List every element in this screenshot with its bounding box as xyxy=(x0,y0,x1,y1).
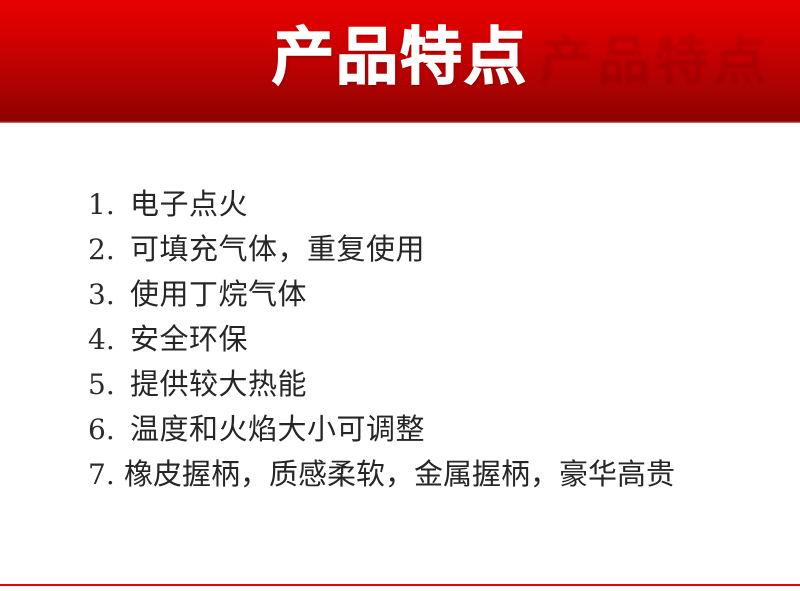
list-item: 4. 安全环保 xyxy=(88,317,768,362)
list-item-index: 4. xyxy=(88,317,130,362)
header-banner: 产品特点 产品特点 xyxy=(0,0,800,123)
list-item: 2. 可填充气体，重复使用 xyxy=(88,227,768,272)
list-item-label: 橡皮握柄，质感柔软，金属握柄，豪华高贵 xyxy=(124,452,675,497)
list-item: 3. 使用丁烷气体 xyxy=(88,272,768,317)
list-item: 5. 提供较大热能 xyxy=(88,362,768,407)
bottom-divider xyxy=(0,584,800,586)
product-features-page: 产品特点 产品特点 1. 电子点火 2. 可填充气体，重复使用 3. 使用丁烷气… xyxy=(0,0,800,591)
list-item: 1. 电子点火 xyxy=(88,182,768,227)
list-item-index: 6. xyxy=(88,407,130,452)
banner-bottom-edge xyxy=(0,120,800,123)
list-item-index: 5. xyxy=(88,362,130,407)
list-item-label: 安全环保 xyxy=(130,317,248,362)
list-item-index: 7. xyxy=(88,452,124,497)
list-item: 6. 温度和火焰大小可调整 xyxy=(88,407,768,452)
list-item-label: 电子点火 xyxy=(130,182,248,227)
list-item-label: 温度和火焰大小可调整 xyxy=(130,407,425,452)
list-item-label: 使用丁烷气体 xyxy=(130,272,307,317)
list-item: 7. 橡皮握柄，质感柔软，金属握柄，豪华高贵 xyxy=(88,452,768,497)
list-item-index: 1. xyxy=(88,182,130,227)
list-item-label: 提供较大热能 xyxy=(130,362,307,407)
list-item-index: 3. xyxy=(88,272,130,317)
page-title: 产品特点 xyxy=(0,20,800,94)
list-item-index: 2. xyxy=(88,227,130,272)
feature-list: 1. 电子点火 2. 可填充气体，重复使用 3. 使用丁烷气体 4. 安全环保 … xyxy=(88,182,768,497)
list-item-label: 可填充气体，重复使用 xyxy=(130,227,425,272)
